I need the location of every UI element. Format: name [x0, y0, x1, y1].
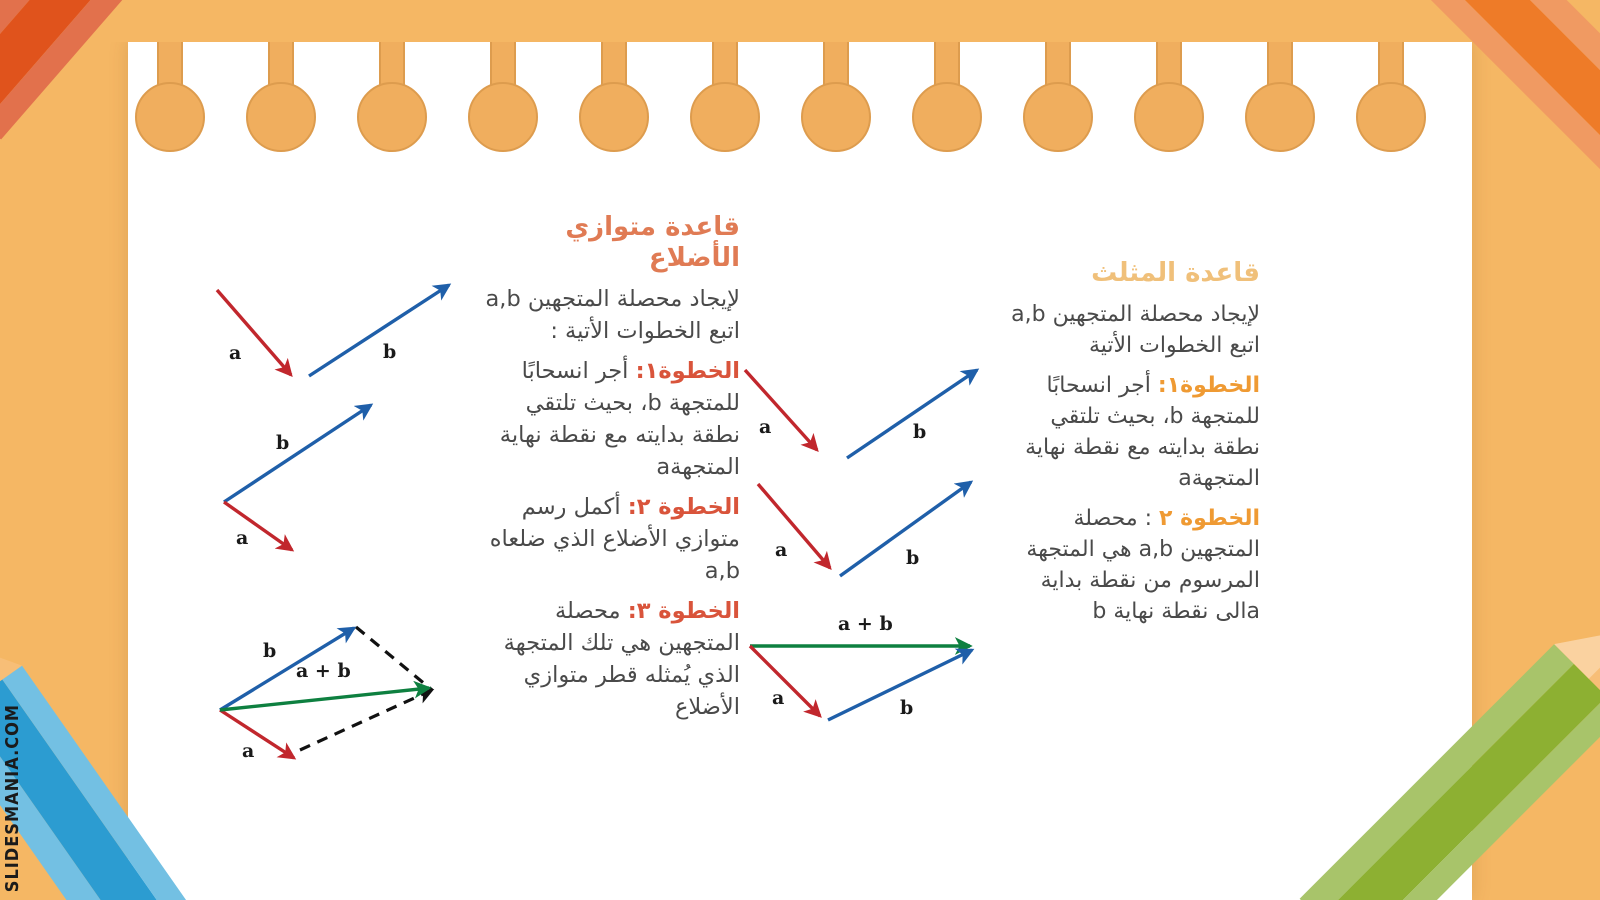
vector-label-b: b	[906, 547, 919, 569]
vector-label-b: b	[913, 421, 926, 443]
triangle-rule-column: قاعدة المثلث لإيجاد محصلة المتجهين a,b ا…	[1010, 258, 1260, 636]
vector-label-b: b	[263, 640, 276, 662]
slidesmania-watermark: SLIDESMANIA.COM	[2, 704, 23, 892]
vector-label-a: a	[242, 740, 254, 762]
vector-label-a: a	[772, 687, 784, 709]
vector-label-a: a	[229, 342, 241, 364]
diagram-right-separate-vectors: a b	[735, 360, 1000, 470]
parallelogram-step1: الخطوة١: أجر انسحابًا للمتجهة b، بحيث تل…	[475, 356, 740, 484]
pencil-red-top-left	[0, 0, 220, 260]
vector-label-b: b	[276, 432, 289, 454]
triangle-step2: الخطوة ٢ : محصلة المتجهين a,b هي المتجهة…	[1010, 503, 1260, 628]
parallelogram-step2: الخطوة ٢: أكمل رسم متوازي الأضلاع الذي ض…	[475, 492, 740, 588]
vector-label-b: b	[900, 697, 913, 719]
pencil-blue-bottom-left	[0, 600, 220, 900]
parallelogram-rule-title: قاعدة متوازي الأضلاع	[475, 212, 740, 274]
diagram-left-separate-vectors: a b	[205, 272, 470, 397]
triangle-step1-label: الخطوة١:	[1158, 373, 1260, 398]
vector-label-sum: a + b	[838, 613, 893, 635]
diagram-left-parallelogram-result: b a a + b	[196, 582, 451, 772]
vector-label-b: b	[383, 341, 396, 363]
diagram-right-triangle-result: a b a + b	[736, 604, 986, 724]
parallelogram-step3: الخطوة ٣: محصلة المتجهين هي تلك المتجهة …	[475, 596, 740, 724]
parallelogram-step2-label: الخطوة ٢:	[628, 494, 740, 520]
vector-label-sum: a + b	[296, 660, 351, 682]
parallelogram-rule-column: قاعدة متوازي الأضلاع لإيجاد محصلة المتجه…	[475, 212, 740, 732]
triangle-step1: الخطوة١: أجر انسحابًا للمتجهة b، بحيث تل…	[1010, 370, 1260, 495]
vector-label-a: a	[236, 527, 248, 549]
diagram-right-head-to-tail: a b	[738, 466, 988, 586]
parallelogram-step3-label: الخطوة ٣:	[628, 598, 740, 624]
triangle-intro-text: لإيجاد محصلة المتجهين a,b اتبع الخطوات ا…	[1010, 299, 1260, 361]
vector-label-a: a	[775, 539, 787, 561]
parallelogram-intro-text: لإيجاد محصلة المتجهين a,b اتبع الخطوات ا…	[475, 284, 740, 348]
triangle-rule-title: قاعدة المثلث	[1010, 258, 1260, 289]
vector-label-a: a	[759, 416, 771, 438]
triangle-step2-label: الخطوة ٢	[1159, 506, 1260, 531]
pencil-orange-top-right	[1270, 0, 1600, 290]
pencil-green-bottom-right	[1290, 595, 1600, 900]
diagram-left-common-origin: b a	[196, 392, 406, 562]
parallelogram-step1-label: الخطوة١:	[636, 358, 740, 384]
